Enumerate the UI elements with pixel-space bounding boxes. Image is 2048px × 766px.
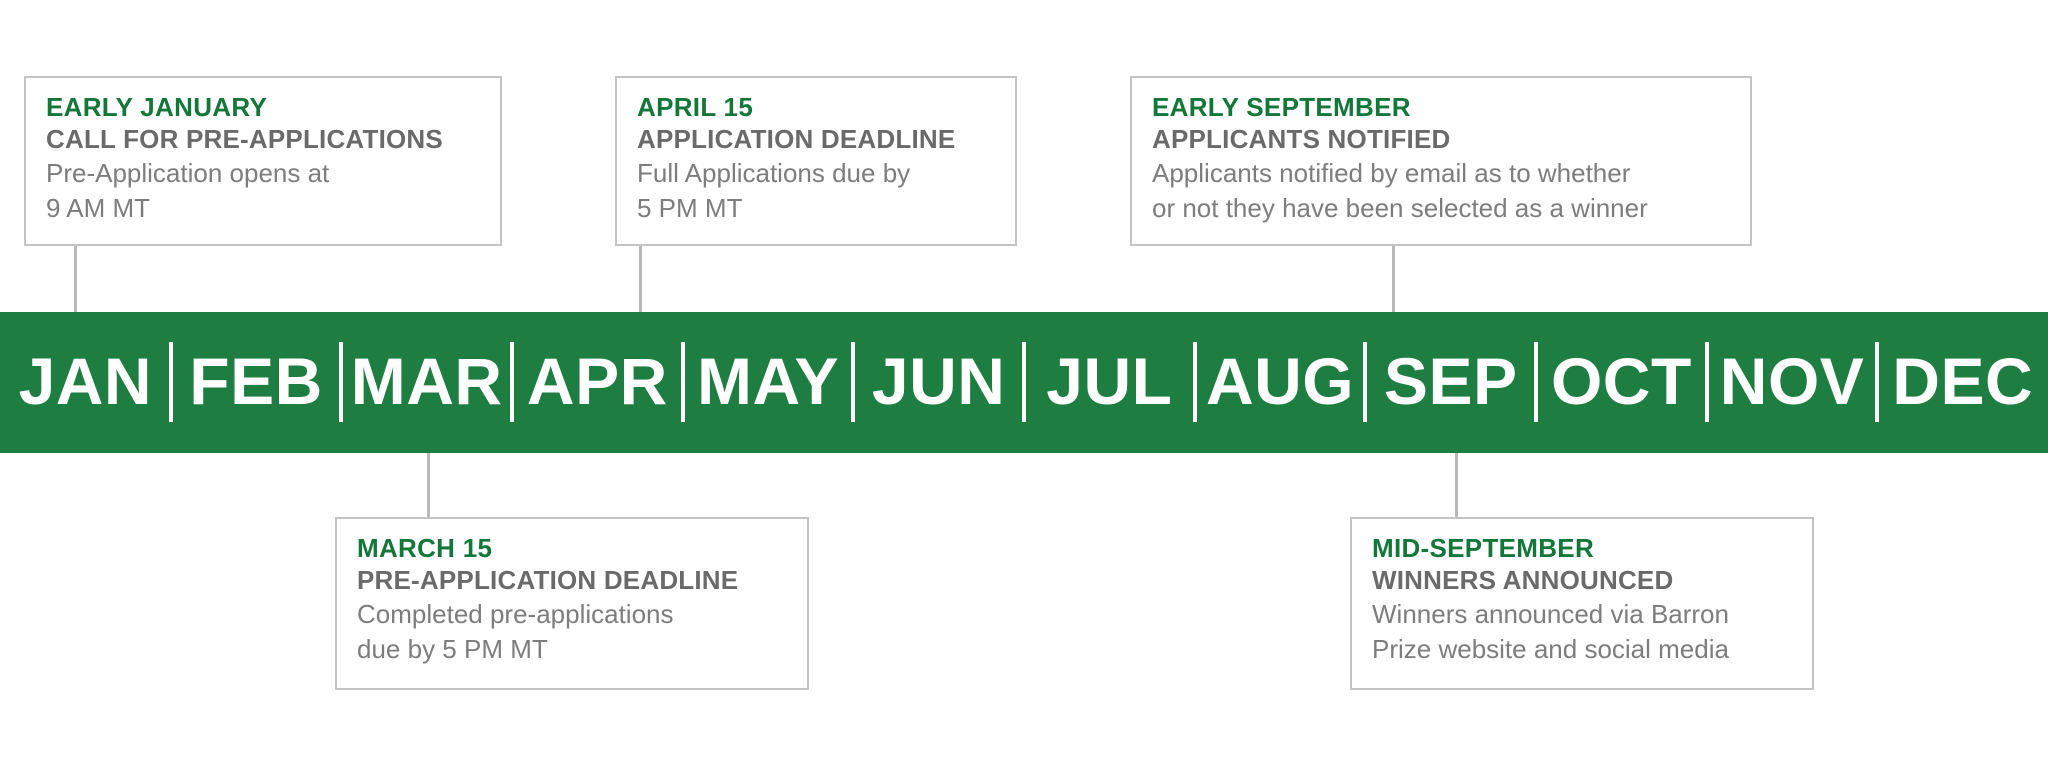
milestone-date: EARLY SEPTEMBER bbox=[1152, 92, 1730, 123]
milestone-date: EARLY JANUARY bbox=[46, 92, 480, 123]
month-cell-feb: FEB bbox=[171, 312, 342, 453]
month-label: JUN bbox=[872, 348, 1006, 414]
milestone-description-line-2: Prize website and social media bbox=[1372, 632, 1792, 666]
connector-line-march-15 bbox=[427, 453, 430, 519]
milestone-description-line-2: 5 PM MT bbox=[637, 191, 995, 225]
milestone-title: WINNERS ANNOUNCED bbox=[1372, 565, 1792, 596]
month-cell-sep: SEP bbox=[1365, 312, 1536, 453]
milestone-card-early-january: EARLY JANUARY CALL FOR PRE-APPLICATIONS … bbox=[24, 76, 502, 246]
month-cell-jun: JUN bbox=[853, 312, 1024, 453]
milestone-title: APPLICATION DEADLINE bbox=[637, 124, 995, 155]
month-cell-dec: DEC bbox=[1877, 312, 2048, 453]
milestone-title: APPLICANTS NOTIFIED bbox=[1152, 124, 1730, 155]
month-label: JUL bbox=[1046, 348, 1172, 414]
month-label: OCT bbox=[1551, 348, 1692, 414]
milestone-description-line-1: Winners announced via Barron bbox=[1372, 597, 1792, 631]
month-cell-may: MAY bbox=[683, 312, 854, 453]
milestone-description-line-1: Applicants notified by email as to wheth… bbox=[1152, 156, 1730, 190]
milestone-card-april-15: APRIL 15 APPLICATION DEADLINE Full Appli… bbox=[615, 76, 1017, 246]
month-cell-nov: NOV bbox=[1707, 312, 1878, 453]
month-cell-jul: JUL bbox=[1024, 312, 1195, 453]
milestone-description-line-2: 9 AM MT bbox=[46, 191, 480, 225]
month-label: DEC bbox=[1892, 348, 2033, 414]
milestone-description-line-1: Full Applications due by bbox=[637, 156, 995, 190]
month-label: MAR bbox=[351, 348, 503, 414]
month-cell-jan: JAN bbox=[0, 312, 171, 453]
milestone-description-line-2: due by 5 PM MT bbox=[357, 632, 787, 666]
month-cell-mar: MAR bbox=[341, 312, 512, 453]
month-label: AUG bbox=[1206, 348, 1354, 414]
milestone-title: CALL FOR PRE-APPLICATIONS bbox=[46, 124, 480, 155]
milestone-description-line-2: or not they have been selected as a winn… bbox=[1152, 191, 1730, 225]
month-cell-apr: APR bbox=[512, 312, 683, 453]
milestone-title: PRE-APPLICATION DEADLINE bbox=[357, 565, 787, 596]
milestone-date: MID-SEPTEMBER bbox=[1372, 533, 1792, 564]
milestone-description-line-1: Completed pre-applications bbox=[357, 597, 787, 631]
connector-line-early-september bbox=[1392, 246, 1395, 314]
month-label: FEB bbox=[189, 348, 323, 414]
month-cell-aug: AUG bbox=[1195, 312, 1366, 453]
connector-line-mid-september bbox=[1455, 453, 1458, 519]
milestone-card-mid-september: MID-SEPTEMBER WINNERS ANNOUNCED Winners … bbox=[1350, 517, 1814, 690]
month-label: JAN bbox=[19, 348, 153, 414]
month-label: SEP bbox=[1384, 348, 1518, 414]
milestone-date: APRIL 15 bbox=[637, 92, 995, 123]
month-label: APR bbox=[527, 348, 668, 414]
milestone-description-line-1: Pre-Application opens at bbox=[46, 156, 480, 190]
milestone-card-early-september: EARLY SEPTEMBER APPLICANTS NOTIFIED Appl… bbox=[1130, 76, 1752, 246]
month-cell-oct: OCT bbox=[1536, 312, 1707, 453]
month-label: MAY bbox=[697, 348, 839, 414]
timeline-infographic: EARLY JANUARY CALL FOR PRE-APPLICATIONS … bbox=[0, 0, 2048, 766]
month-label: NOV bbox=[1720, 348, 1865, 414]
month-bar: JAN FEB MAR APR MAY JUN JUL AUG bbox=[0, 312, 2048, 453]
connector-line-april-15 bbox=[639, 246, 642, 314]
milestone-card-march-15: MARCH 15 PRE-APPLICATION DEADLINE Comple… bbox=[335, 517, 809, 690]
connector-line-early-january bbox=[74, 246, 77, 314]
milestone-date: MARCH 15 bbox=[357, 533, 787, 564]
